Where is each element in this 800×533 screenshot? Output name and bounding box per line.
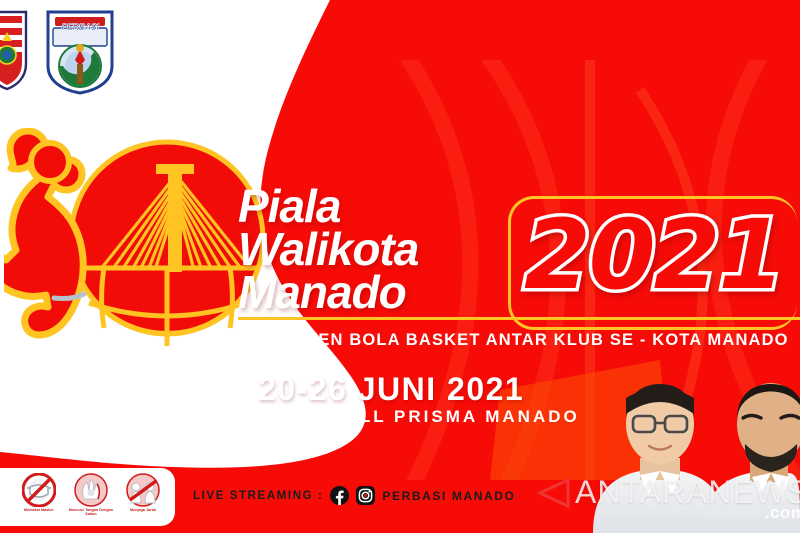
title-line-1: Piala xyxy=(238,185,418,228)
perbasi-manado-crest: KOTA MANADO PERBASI xyxy=(44,8,116,96)
event-venue: SPORT HALL PRISMA MANADO xyxy=(248,407,580,427)
health-protocol-item: Menjaga Jarak xyxy=(120,473,166,512)
live-streaming-bar: LIVE STREAMING : PERBASI MANADO xyxy=(193,486,515,505)
live-streaming-handle: PERBASI MANADO xyxy=(382,489,515,503)
official-portraits xyxy=(585,358,800,533)
kota-manado-crest-icon xyxy=(0,8,30,92)
instagram-icon[interactable] xyxy=(356,486,375,505)
poster-root: KOTA MANADO PERBASI xyxy=(0,0,800,533)
health-protocol-item: Memakai Masker xyxy=(16,473,62,512)
event-year: 2021 xyxy=(524,207,783,303)
event-date: 20-26 JUNI 2021 xyxy=(258,371,524,408)
gold-divider xyxy=(238,317,800,320)
health-protocol-item: Mencuci Tangan Dengan Sabun xyxy=(68,473,114,517)
kota-manado-crest xyxy=(0,8,30,92)
health-protocol-box: Memakai Masker Mencuci Tangan Dengan Sab… xyxy=(0,468,175,526)
perbasi-manado-crest-icon xyxy=(44,8,116,96)
event-title: Piala Walikota Manado xyxy=(238,185,418,313)
dunking-player-silhouette xyxy=(4,131,84,335)
official-portrait-right xyxy=(703,383,800,533)
official-portrait-left xyxy=(593,384,725,533)
event-subtitle: TURNAMEN BOLA BASKET ANTAR KLUB SE - KOT… xyxy=(240,331,789,350)
health-protocol-caption: Mencuci Tangan Dengan Sabun xyxy=(68,508,114,517)
organizer-logos: KOTA MANADO PERBASI xyxy=(0,8,116,96)
health-protocol-caption: Menjaga Jarak xyxy=(120,508,166,512)
wear-mask-icon xyxy=(22,473,56,507)
title-line-2: Walikota xyxy=(238,228,418,271)
keep-distance-icon xyxy=(126,473,160,507)
wash-hands-icon xyxy=(74,473,108,507)
health-protocol-caption: Memakai Masker xyxy=(16,508,62,512)
live-streaming-label: LIVE STREAMING : xyxy=(193,490,323,502)
title-line-3: Manado xyxy=(238,271,418,314)
facebook-icon[interactable] xyxy=(330,486,349,505)
